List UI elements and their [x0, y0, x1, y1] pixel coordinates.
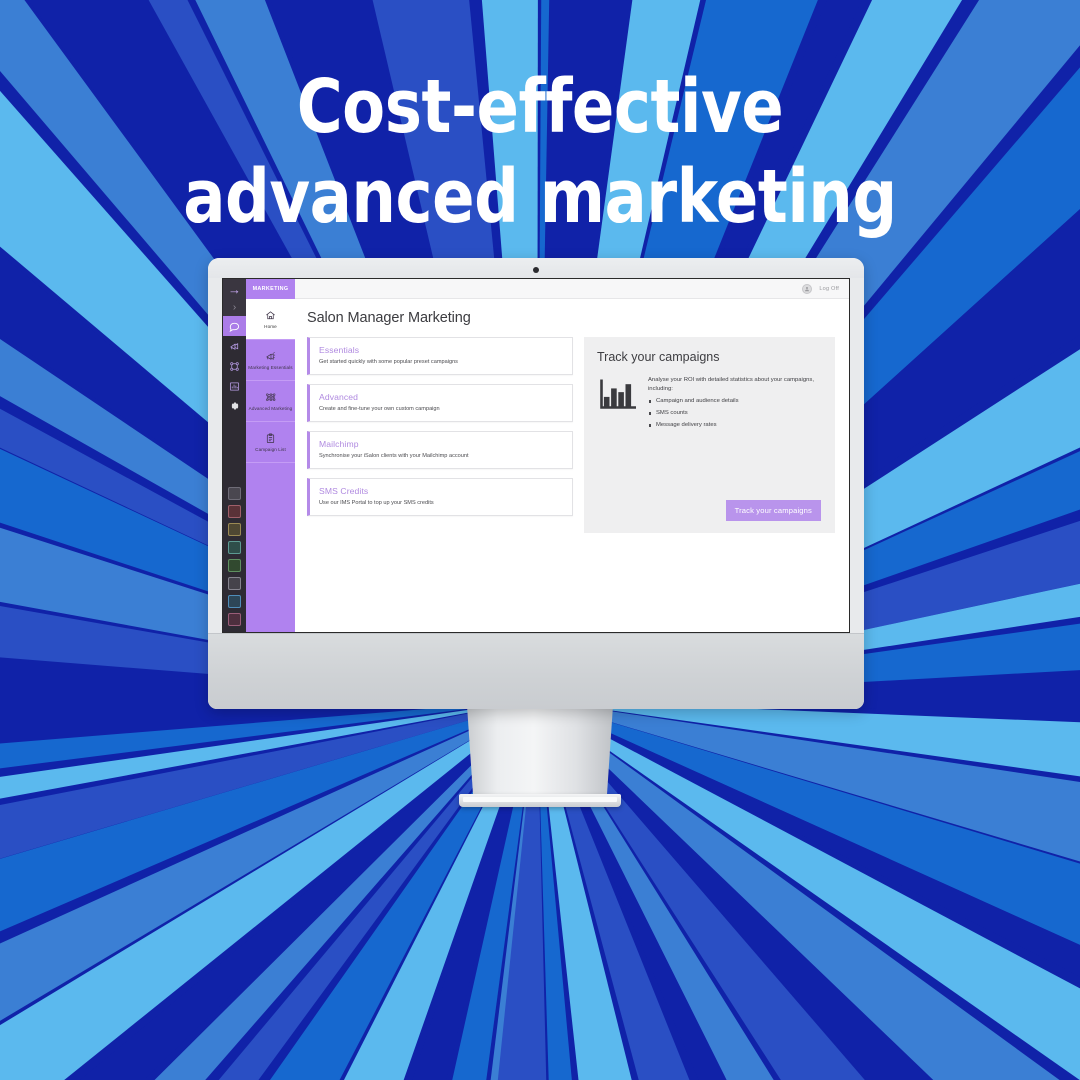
chat-icon[interactable] [223, 316, 246, 336]
report-app-icon[interactable] [228, 559, 241, 572]
gear-icon[interactable] [223, 396, 246, 416]
track-campaigns-bullets: Campaign and audience details SMS counts… [648, 398, 821, 429]
nodes-icon [265, 391, 276, 405]
page-body: Salon Manager Marketing Essentials Get s… [295, 299, 849, 632]
card-sms-credits[interactable]: SMS Credits Use our IMS Portal to top up… [307, 478, 573, 516]
nav-header-label: MARKETING [246, 279, 295, 299]
card-essentials-desc: Get started quickly with some popular pr… [319, 359, 563, 366]
card-mailchimp[interactable]: Mailchimp Synchronise your iSalon client… [307, 431, 573, 469]
calendar-app-icon[interactable] [228, 487, 241, 500]
grid-app-icon[interactable] [228, 523, 241, 536]
track-your-campaigns-button[interactable]: Track your campaigns [726, 500, 821, 521]
rail-app-icons [228, 484, 241, 632]
monitor-top-bezel [208, 258, 864, 278]
card-advanced-title: Advanced [319, 392, 563, 402]
list-item: SMS counts [648, 410, 821, 417]
card-sms-credits-desc: Use our IMS Portal to top up your SMS cr… [319, 500, 563, 507]
card-essentials-title: Essentials [319, 345, 563, 355]
document-app-icon[interactable] [228, 613, 241, 626]
chart-icon[interactable] [223, 376, 246, 396]
sidebar-item-campaign-list[interactable]: Campaign List [246, 422, 295, 463]
user-avatar-icon[interactable] [802, 284, 812, 294]
sidebar-item-home[interactable]: Home [246, 299, 295, 340]
list-item: Message delivery rates [648, 422, 821, 429]
marketing-icon[interactable] [223, 336, 246, 356]
monitor-device: → › [208, 258, 864, 709]
card-mailchimp-title: Mailchimp [319, 439, 563, 449]
megaphone-icon [265, 350, 276, 364]
page-title: Salon Manager Marketing [307, 310, 835, 326]
card-mailchimp-desc: Synchronise your iSalon clients with you… [319, 453, 563, 460]
track-campaigns-panel: Track your campaigns Analyse your ROI wi… [584, 337, 835, 533]
marketing-nav: MARKETING Home [246, 279, 295, 632]
monitor-stand [464, 706, 616, 796]
track-campaigns-column: Track your campaigns Analyse your ROI wi… [584, 337, 835, 533]
till-app-icon[interactable] [228, 505, 241, 518]
sidebar-item-campaign-list-label: Campaign List [255, 448, 286, 453]
device-app-icon[interactable] [228, 595, 241, 608]
app-rail: → › [223, 279, 246, 632]
card-advanced-desc: Create and fine-tune your own custom cam… [319, 406, 563, 413]
app-topbar: Log Off [295, 279, 849, 299]
chin-divider [208, 633, 864, 634]
sidebar-item-marketing-essentials-label: Marketing Essentials [248, 366, 292, 371]
message-app-icon[interactable] [228, 577, 241, 590]
monitor-screen: → › [222, 278, 850, 633]
sidebar-item-advanced-marketing[interactable]: Advanced Marketing [246, 381, 295, 422]
app-content: Log Off Salon Manager Marketing Essentia… [295, 279, 849, 632]
network-icon[interactable] [223, 356, 246, 376]
sidebar-item-home-label: Home [264, 325, 277, 330]
expand-rail-button[interactable]: → [223, 279, 246, 299]
clipboard-icon [265, 432, 276, 446]
home-icon [265, 309, 276, 323]
sidebar-item-marketing-essentials[interactable]: Marketing Essentials [246, 340, 295, 381]
sidebar-item-advanced-marketing-label: Advanced Marketing [249, 407, 293, 412]
webcam-icon [533, 267, 539, 273]
track-campaigns-lead: Analyse your ROI with detailed statistic… [648, 376, 821, 393]
card-sms-credits-title: SMS Credits [319, 486, 563, 496]
campaign-cards-column: Essentials Get started quickly with some… [307, 337, 573, 525]
list-item: Campaign and audience details [648, 398, 821, 405]
card-advanced[interactable]: Advanced Create and fine-tune your own c… [307, 384, 573, 422]
bar-chart-icon [597, 376, 637, 434]
collapse-rail-button[interactable]: › [223, 299, 246, 316]
monitor-chin [208, 633, 864, 709]
card-essentials[interactable]: Essentials Get started quickly with some… [307, 337, 573, 375]
monitor-stand-base [459, 794, 621, 807]
logoff-button[interactable]: Log Off [819, 286, 839, 292]
bag-app-icon[interactable] [228, 541, 241, 554]
track-campaigns-title: Track your campaigns [597, 350, 821, 364]
